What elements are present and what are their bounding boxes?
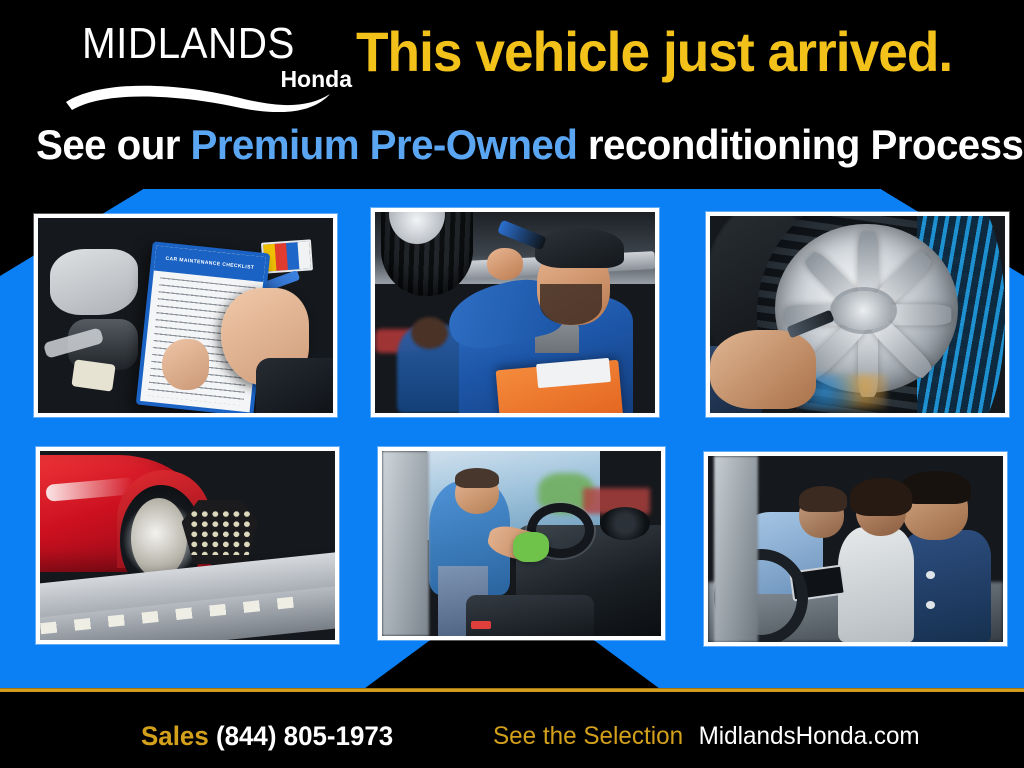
sleeve-shape xyxy=(256,358,333,413)
interior-detailing-photo xyxy=(378,447,665,640)
wheel-hub-shape xyxy=(834,291,893,330)
phone-number[interactable]: (844) 805-1973 xyxy=(216,721,393,751)
photo-frame xyxy=(40,451,335,640)
alloy-rim-shape xyxy=(131,498,187,577)
alignment-reflector-dots-shape xyxy=(189,509,250,555)
see-the-selection-label: See the Selection xyxy=(493,722,683,750)
wheel-alignment-photo xyxy=(36,447,339,644)
undercarriage-inspection-photo xyxy=(371,208,659,417)
clipboard-title: CAR MAINTENANCE CHECKLIST xyxy=(154,246,266,282)
sales-label: Sales xyxy=(141,721,209,751)
alignment-target-shape xyxy=(182,500,259,564)
advertisement-banner: MIDLANDS Honda This vehicle just arrived… xyxy=(0,0,1024,768)
background-worker-head-shape xyxy=(411,317,447,349)
mechanic-hand-shape xyxy=(487,248,523,280)
photo-frame: CAR MAINTENANCE CHECKLIST xyxy=(38,218,333,413)
shirt-button-shape xyxy=(926,571,935,578)
gauge-cluster-shape xyxy=(600,507,650,540)
detailer-hair-shape xyxy=(455,468,500,488)
mechanic-cap-shape xyxy=(535,228,625,268)
engine-label-shape xyxy=(72,360,117,393)
mechanic-beard-shape xyxy=(540,284,602,324)
photo-frame xyxy=(710,216,1005,413)
door-pillar-shape xyxy=(714,456,758,642)
delivery-walkthrough-photo xyxy=(704,452,1007,646)
customer-woman-body-shape xyxy=(838,527,915,642)
customer-woman-hair-shape xyxy=(850,478,912,515)
tire-and-wheel-service-photo xyxy=(706,212,1009,417)
technician-hand-shape xyxy=(710,330,816,409)
left-hand-shape xyxy=(162,339,209,390)
photo-frame xyxy=(375,212,655,413)
selection-link[interactable]: See the Selection MidlandsHonda.com xyxy=(493,724,920,749)
website-url[interactable]: MidlandsHonda.com xyxy=(699,722,920,750)
console-button-shape xyxy=(471,621,491,628)
multi-point-inspection-photo: CAR MAINTENANCE CHECKLIST xyxy=(34,214,337,417)
microfiber-cloth-shape xyxy=(513,532,549,562)
reconditioning-photo-grid: CAR MAINTENANCE CHECKLIST xyxy=(0,0,1024,690)
engine-part-shape xyxy=(50,249,139,315)
door-pillar-shape xyxy=(382,451,429,636)
shirt-button-shape xyxy=(926,601,935,608)
sales-associate-hair-shape xyxy=(799,486,846,512)
photo-frame xyxy=(382,451,661,636)
sales-contact[interactable]: Sales (844) 805-1973 xyxy=(141,723,393,750)
center-console-shape xyxy=(466,595,594,636)
photo-frame xyxy=(708,456,1003,642)
